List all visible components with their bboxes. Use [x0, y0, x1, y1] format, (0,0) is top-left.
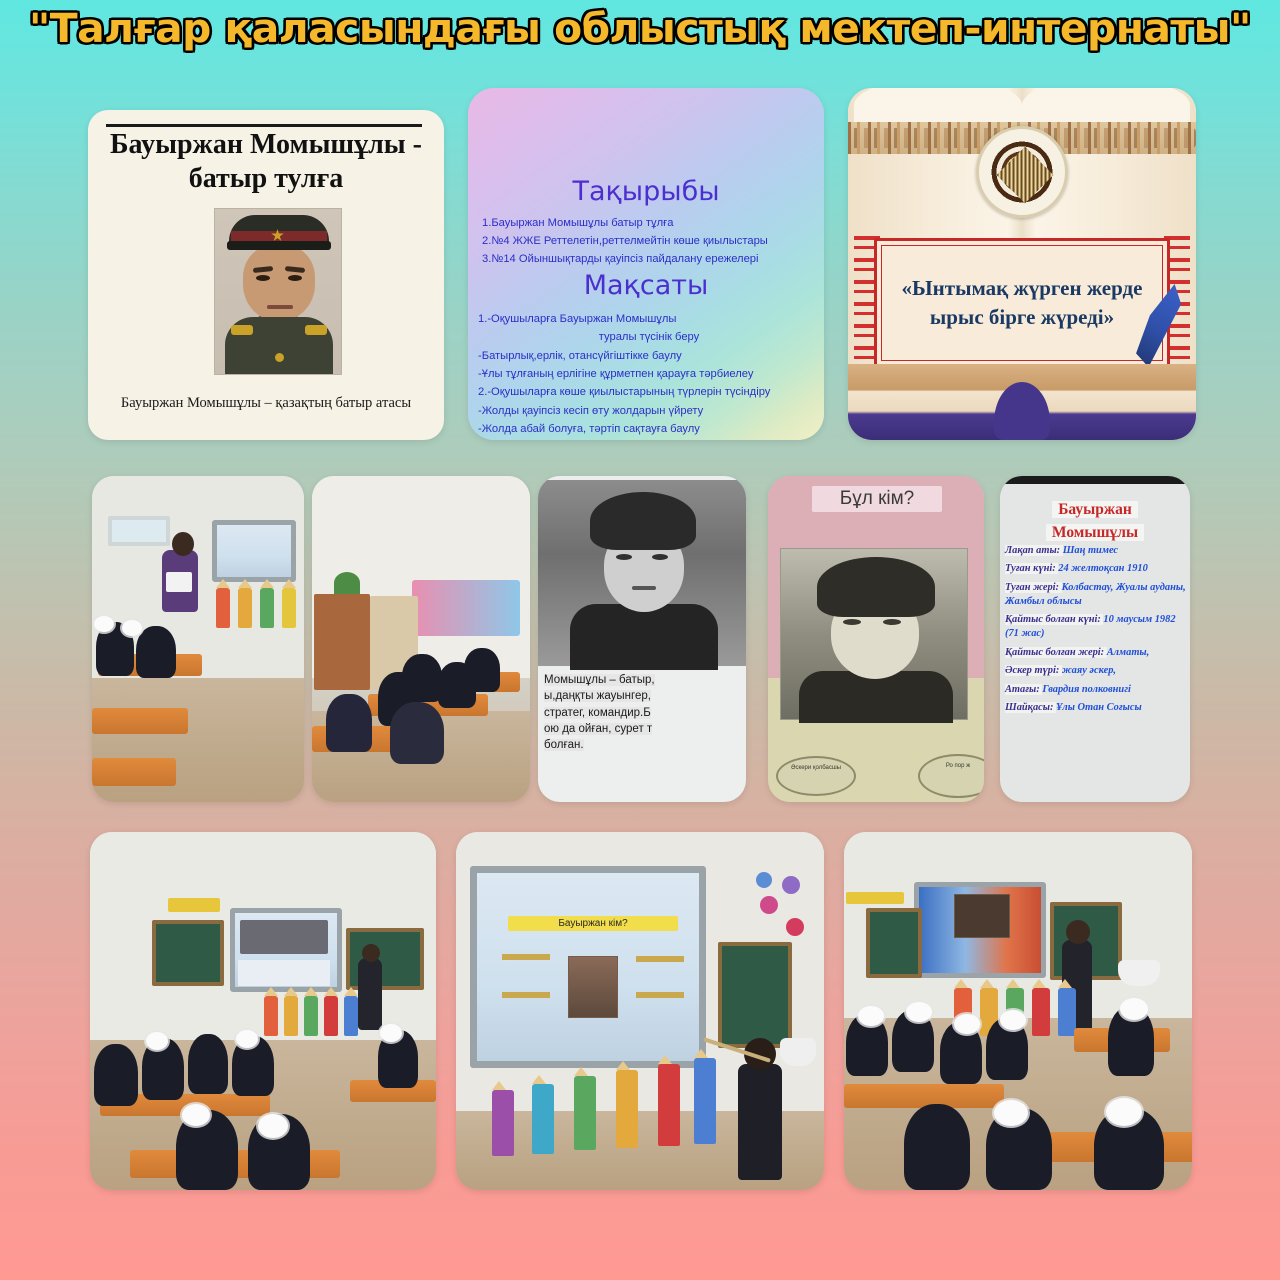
momyshuly-description-line: ы,даңқты жауынгер, [544, 688, 740, 704]
biography-fact-row: Лақап аты: Шаң тимес [1005, 544, 1187, 558]
board-slide-caption: Бауыржан кім? [508, 916, 678, 931]
proverb-slide-card: «Ынтымақ жүрген жерде ырыс бірге жүреді» [848, 88, 1196, 440]
biography-fact-label: Лақап аты: [1005, 545, 1063, 556]
biography-fact-value: Шаң тимес [1063, 545, 1118, 556]
agenda-goal-item: 2.-Оқушыларға көше қиылыстарының түрлері… [478, 383, 820, 401]
momyshuly-sepia-photo [780, 548, 968, 720]
agenda-goal-item: -Жолды қауіпсіз кесіп өту жолдарын үйрет… [478, 402, 820, 420]
lesson-wide-photo [90, 832, 436, 1190]
biography-fact-row: Атағы: Гвардия полковнигі [1005, 683, 1187, 697]
biography-fact-value: Алматы, [1107, 647, 1149, 658]
agenda-goal-list: 1.-Оқушыларға Бауыржан Момышұлытуралы тү… [478, 310, 820, 440]
momyshuly-description-text: Момышұлы – батыр,ы,даңқты жауынгер,страт… [538, 668, 746, 758]
biography-fact-label: Әскер түрі: [1005, 665, 1062, 676]
teacher-presenting-photo [844, 832, 1192, 1190]
biography-fact-label: Атағы: [1005, 684, 1042, 695]
agenda-topic-item: 3.№14 Ойыншықтарды қауіпсіз пайдалану ер… [482, 250, 816, 268]
hero-slide-card: Бауыржан Момышұлы - батыр тулға Бауыржан… [88, 110, 444, 440]
biography-fact-label: Туған күні: [1005, 563, 1058, 574]
pupil-at-board-photo: Бауыржан кім? [456, 832, 824, 1190]
proverb-text: «Ынтымақ жүрген жерде ырыс бірге жүреді» [877, 274, 1167, 332]
classroom-pupils-photo [312, 476, 530, 802]
biography-card: Бауыржан Момышұлы Лақап аты: Шаң тимесТу… [1000, 476, 1190, 802]
biography-fact-row: Шайқасы: Ұлы Отан Соғысы [1005, 701, 1187, 715]
who-is-this-slide: Бұл кім? Әскери қолбасшы Ро пор ж [768, 476, 984, 802]
biography-fact-value: 24 желтоқсан 1910 [1058, 563, 1148, 574]
biography-title: Бауыржан Момышұлы [1000, 498, 1190, 545]
classroom-teacher-photo [92, 476, 304, 802]
biography-fact-label: Туған жері: [1005, 582, 1062, 593]
agenda-topic-list: 1.Бауыржан Момышұлы батыр тұлға2.№4 ЖЖЕ … [482, 214, 816, 268]
agenda-topic-item: 1.Бауыржан Момышұлы батыр тұлға [482, 214, 816, 232]
biography-fact-row: Туған күні: 24 желтоқсан 1910 [1005, 562, 1187, 576]
page-title-text: "Талғар қаласындағы облыстық мектеп-инте… [29, 6, 1251, 52]
page-title: "Талғар қаласындағы облыстық мектеп-инте… [0, 6, 1280, 52]
momyshuly-text-slide: Момышұлы – батыр,ы,даңқты жауынгер,страт… [538, 476, 746, 802]
momyshuly-description-line: болған. [544, 737, 740, 753]
biography-fact-list: Лақап аты: Шаң тимесТуған күні: 24 желто… [1005, 544, 1187, 719]
biography-fact-label: Қайтыс болған күні: [1005, 614, 1103, 625]
agenda-goal-item: туралы түсінік беру [478, 328, 820, 346]
momyshuly-portrait [214, 208, 342, 375]
proverb-frame: «Ынтымақ жүрген жерде ырыс бірге жүреді» [874, 238, 1170, 368]
agenda-goal-item: -Жолда абай болуға, тәртіп сақтауға баул… [478, 420, 820, 438]
kazakh-emblem-icon [976, 126, 1068, 218]
agenda-topic-heading: Тақырыбы [468, 176, 824, 207]
biography-fact-value: Ұлы Отан Соғысы [1056, 702, 1142, 713]
who-is-this-title: Бұл кім? [812, 486, 942, 512]
momyshuly-description-line: стратег, командир.Б [544, 705, 740, 721]
biography-fact-row: Туған жері: Колбастау, Жуалы ауданы, Жам… [1005, 581, 1187, 609]
agenda-goal-item: 3.Балаларды үйдегі қауіпті заттарды тану… [478, 439, 820, 440]
agenda-goal-item: -Батырлық,ерлік, отансүйгіштікке баулу [478, 347, 820, 365]
hero-caption: Бауыржан Момышұлы – қазақтың батыр атасы [100, 395, 432, 412]
biography-fact-row: Қайтыс болған күні: 10 маусым 1982 (71 ж… [1005, 613, 1187, 641]
momyshuly-bw-photo [538, 480, 746, 666]
biography-fact-label: Қайтыс болған жері: [1005, 647, 1107, 658]
biography-title-line1: Бауыржан [1052, 501, 1138, 518]
poster-page: "Талғар қаласындағы облыстық мектеп-инте… [0, 0, 1280, 1280]
biography-fact-row: Қайтыс болған жері: Алматы, [1005, 646, 1187, 660]
biography-fact-label: Шайқасы: [1005, 702, 1056, 713]
biography-fact-value: жаяу әскер, [1062, 665, 1116, 676]
biography-fact-row: Әскер түрі: жаяу әскер, [1005, 664, 1187, 678]
divider-rule [106, 124, 422, 127]
biography-title-line2: Момышұлы [1046, 524, 1144, 541]
agenda-goal-item: -Ұлы тұлғаның ерлігіне құрметпен қарауға… [478, 365, 820, 383]
agenda-goal-item: 1.-Оқушыларға Бауыржан Момышұлы [478, 310, 820, 328]
biography-fact-value: Гвардия полковнигі [1042, 684, 1131, 695]
momyshuly-description-line: ою да ойған, сурет т [544, 721, 740, 737]
hero-heading: Бауыржан Момышұлы - батыр тулға [96, 128, 436, 196]
momyshuly-description-line: Момышұлы – батыр, [544, 672, 740, 688]
answer-bubble-left: Әскери қолбасшы [776, 756, 856, 796]
agenda-slide-card: Тақырыбы 1.Бауыржан Момышұлы батыр тұлға… [468, 88, 824, 440]
agenda-goal-heading: Мақсаты [468, 270, 824, 301]
agenda-topic-item: 2.№4 ЖЖЕ Реттелетін,реттелмейтін көше қи… [482, 232, 816, 250]
